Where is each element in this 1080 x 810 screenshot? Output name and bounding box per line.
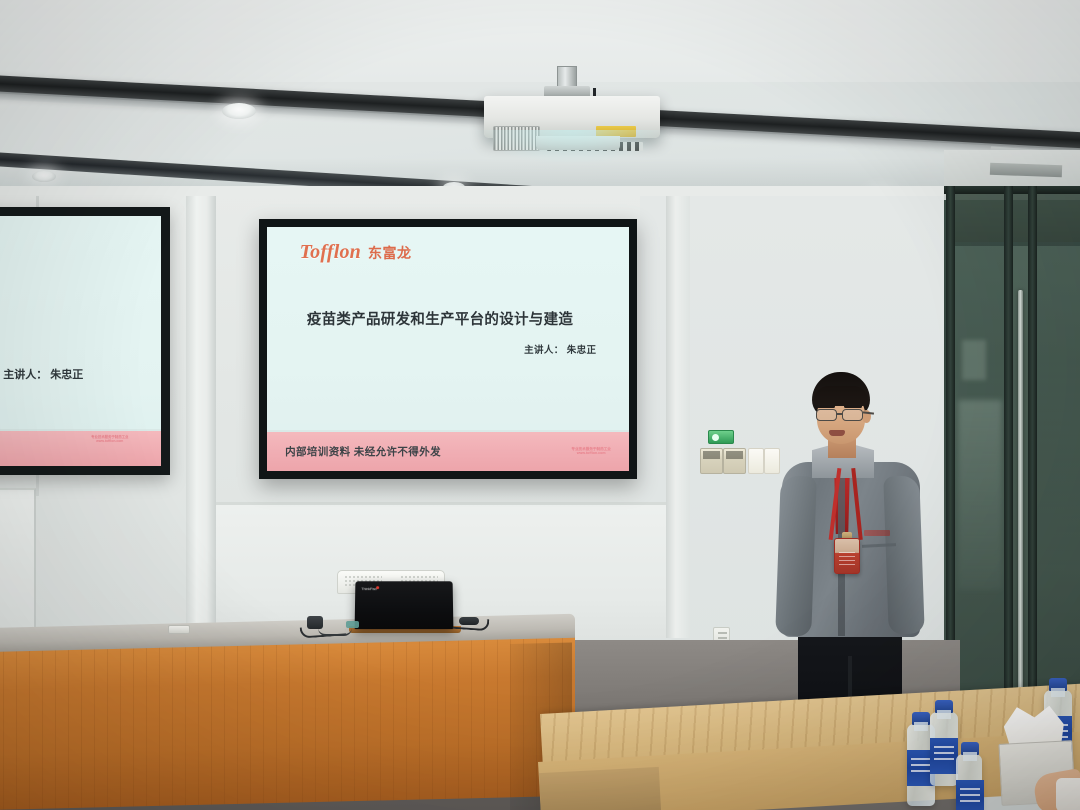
slide-left-banner-right: 专业技术服务于制药工业 www.tofflon.com — [91, 435, 128, 444]
bottle-neck — [963, 752, 977, 761]
glasses-lens-left — [816, 409, 837, 421]
bottle-neck — [1051, 688, 1065, 697]
slide-left-url: www.tofflon.com — [91, 439, 128, 443]
desk-usb-dongle[interactable] — [346, 621, 359, 628]
bottle-neck — [937, 710, 951, 719]
laptop-brand-text: ThinkPad — [361, 586, 377, 591]
presenter-fringe — [814, 386, 868, 406]
light-switch-plate-1[interactable] — [700, 448, 723, 474]
slide-footer-banner: 内部培训资料 未经允许不得外发 专业技术服务于制药工业 www.tofflon.… — [267, 430, 629, 471]
partition-mullion-2 — [1004, 186, 1013, 750]
glasses-lens-right — [842, 409, 863, 421]
attendee-sleeve — [1056, 778, 1080, 810]
partition-transom-pane — [955, 194, 1080, 242]
partition-glass-pane-right — [1037, 246, 1080, 750]
tofflon-logo: Tofflon 东富龙 — [300, 241, 412, 264]
bottle-label — [956, 780, 984, 810]
presenter-laptop[interactable]: ThinkPad — [355, 581, 454, 629]
projection-screen-main[interactable]: Tofflon 东富龙 疫苗类产品研发和生产平台的设计与建造 主讲人： 朱忠正 … — [259, 219, 637, 479]
glass-reflection — [958, 400, 1002, 590]
wall-wainscot-panel-left — [0, 488, 36, 638]
logo-text-cn: 东富龙 — [368, 243, 412, 263]
id-badge — [834, 538, 860, 574]
glasses-bridge — [837, 413, 843, 415]
presenter-eyebrow-left — [817, 405, 835, 408]
laptop-brand-logo: ThinkPad — [361, 586, 377, 591]
bottle-label — [930, 738, 958, 774]
laptop-logo-dot — [376, 586, 379, 589]
glasses-icon — [814, 409, 870, 422]
light-switch-plate-2[interactable] — [723, 448, 746, 474]
slide-title: 疫苗类产品研发和生产平台的设计与建造 — [307, 308, 573, 329]
presenter-standing — [776, 372, 926, 702]
bottle-neck — [914, 722, 928, 731]
partition-mullion-3 — [1028, 186, 1037, 750]
wall-pillar-right — [666, 196, 690, 638]
water-bottle[interactable] — [930, 712, 958, 786]
projector-light-glow — [474, 130, 670, 164]
slide-body: Tofflon 东富龙 疫苗类产品研发和生产平台的设计与建造 主讲人： 朱忠正 — [267, 227, 629, 430]
slide-banner-url: www.tofflon.com — [571, 451, 611, 455]
presenter-arm-left — [775, 475, 817, 636]
chair-back — [539, 767, 661, 810]
conference-room-photo: 的设计与建造 主讲人： 朱忠正 专业技术服务于制药工业 www.tofflon.… — [0, 0, 1080, 810]
corridor-air-vent — [990, 163, 1062, 178]
desk-cable-2 — [318, 628, 352, 636]
slide-left-presenter: 主讲人： 朱忠正 — [3, 366, 83, 382]
light-switch-plate-3[interactable] — [748, 448, 764, 474]
presenter-arm-right — [883, 475, 924, 634]
slide-presenter: 主讲人： 朱忠正 — [524, 342, 596, 356]
glass-reflection-small — [962, 340, 986, 380]
podium-front-panel — [0, 634, 575, 810]
desk-socket[interactable] — [168, 625, 190, 634]
wall-control-panel[interactable] — [700, 430, 780, 485]
door-handle[interactable] — [1018, 290, 1023, 710]
presentation-slide: Tofflon 东富龙 疫苗类产品研发和生产平台的设计与建造 主讲人： 朱忠正 … — [267, 227, 629, 471]
glass-partition — [944, 150, 1080, 750]
downlight-icon — [222, 103, 256, 119]
ceiling-projector — [484, 72, 660, 148]
projection-screen-left[interactable]: 的设计与建造 主讲人： 朱忠正 专业技术服务于制药工业 www.tofflon.… — [0, 207, 170, 475]
ceiling-upper-plane — [0, 0, 1080, 82]
jacket-chest-logo — [864, 530, 890, 536]
water-bottle[interactable] — [956, 754, 982, 810]
glasses-temple — [863, 411, 874, 414]
emergency-indicator-icon[interactable] — [708, 430, 734, 444]
wooden-podium-desk — [0, 628, 575, 810]
slide-left: 的设计与建造 主讲人： 朱忠正 专业技术服务于制药工业 www.tofflon.… — [0, 216, 161, 466]
presenter-mouth — [829, 430, 845, 436]
logo-text-en: Tofflon — [300, 241, 361, 264]
wall-pillar — [186, 196, 216, 638]
slide-banner-text: 内部培训资料 未经允许不得外发 — [285, 444, 441, 459]
slide-banner-right: 专业技术服务于制药工业 www.tofflon.com — [571, 447, 611, 456]
slide-left-banner: 专业技术服务于制药工业 www.tofflon.com — [0, 429, 161, 467]
presenter-clicker[interactable] — [459, 617, 479, 625]
presenter-eyebrow-right — [844, 405, 862, 408]
